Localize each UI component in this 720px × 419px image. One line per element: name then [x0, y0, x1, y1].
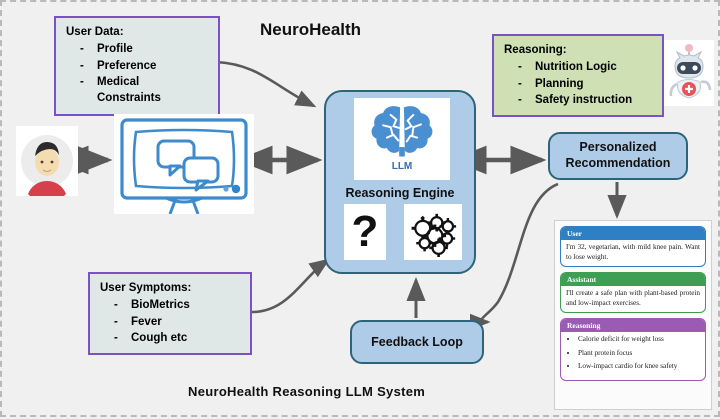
list-item: Low-impact cardio for knee safety	[578, 362, 700, 372]
reasoning-item-label: Planning	[535, 76, 654, 92]
user-data-box: User Data: -Profile -Preference -Medical…	[54, 16, 220, 116]
llm-label: LLM	[392, 161, 413, 172]
chat-assistant-body: I'll create a safe plan with plant-based…	[561, 286, 705, 312]
user-symptoms-list: -BioMetrics -Fever -Cough etc	[100, 297, 242, 346]
chat-transcript-panel: User I'm 32, vegetarian, with mild knee …	[554, 220, 712, 410]
reasoning-heading: Reasoning:	[504, 42, 654, 58]
gears-icon	[404, 204, 462, 260]
arrow-recommendation-feedback	[481, 184, 558, 322]
question-mark-icon: ?	[344, 204, 386, 260]
dash-marker: -	[80, 74, 92, 90]
dash-marker: -	[518, 59, 530, 75]
list-item-continuation: Constraints	[80, 90, 210, 106]
llm-tile: LLM	[354, 98, 450, 180]
recommendation-line-2: Recommendation	[566, 156, 671, 172]
personalized-recommendation-node[interactable]: Personalized Recommendation	[548, 132, 688, 180]
diagram-canvas: NeuroHealth User Data: -Profile -Prefere…	[0, 0, 720, 417]
list-item: -BioMetrics	[114, 297, 242, 313]
user-data-item-label: Profile	[97, 41, 210, 57]
reasoning-item-label: Safety instruction	[535, 92, 654, 108]
chat-card-reasoning: Reasoning Calorie deficit for weight los…	[560, 318, 706, 381]
monitor-chat-icon	[114, 114, 254, 214]
recommendation-line-1: Personalized	[566, 140, 671, 156]
chat-user-header: User	[561, 227, 705, 240]
user-symptoms-item-label: BioMetrics	[131, 297, 242, 313]
brain-icon	[368, 102, 436, 160]
user-data-item-label: Medical	[97, 74, 210, 90]
list-item: -Planning	[518, 76, 654, 92]
user-data-heading: User Data:	[66, 24, 210, 40]
chat-assistant-header: Assistant	[561, 273, 705, 286]
arrow-userdata-engine	[216, 62, 314, 106]
chat-card-assistant: Assistant I'll create a safe plan with p…	[560, 272, 706, 313]
list-item: -Preference	[80, 58, 210, 74]
reasoning-list: -Nutrition Logic -Planning -Safety instr…	[504, 59, 654, 108]
chat-reasoning-header: Reasoning	[561, 319, 705, 332]
user-symptoms-box: User Symptoms: -BioMetrics -Fever -Cough…	[88, 272, 252, 355]
diagram-caption: NeuroHealth Reasoning LLM System	[188, 384, 425, 399]
dash-marker: -	[114, 297, 126, 313]
list-item: -Cough etc	[114, 330, 242, 346]
list-item: -Profile	[80, 41, 210, 57]
user-data-item-label: Constraints	[97, 90, 210, 106]
list-item: Plant protein focus	[578, 349, 700, 359]
dash-marker: -	[518, 92, 530, 108]
user-symptoms-item-label: Cough etc	[131, 330, 242, 346]
feedback-loop-label: Feedback Loop	[371, 335, 463, 349]
list-item: -Medical	[80, 74, 210, 90]
page-title: NeuroHealth	[260, 20, 361, 40]
chat-reasoning-list: Calorie deficit for weight loss Plant pr…	[566, 335, 700, 372]
list-item: Calorie deficit for weight loss	[578, 335, 700, 345]
medical-robot-icon	[664, 40, 714, 106]
reasoning-item-label: Nutrition Logic	[535, 59, 654, 75]
dash-marker: -	[518, 76, 530, 92]
list-item: -Nutrition Logic	[518, 59, 654, 75]
reasoning-engine-title: Reasoning Engine	[326, 186, 474, 200]
recommendation-label: Personalized Recommendation	[566, 140, 671, 171]
reasoning-box: Reasoning: -Nutrition Logic -Planning -S…	[492, 34, 664, 117]
dash-marker: -	[80, 41, 92, 57]
dash-marker: -	[114, 314, 126, 330]
feedback-loop-node[interactable]: Feedback Loop	[350, 320, 484, 364]
reasoning-engine-node[interactable]: LLM Reasoning Engine ?	[324, 90, 476, 274]
user-symptoms-item-label: Fever	[131, 314, 242, 330]
chat-card-user: User I'm 32, vegetarian, with mild knee …	[560, 226, 706, 267]
chat-user-body: I'm 32, vegetarian, with mild knee pain.…	[561, 240, 705, 266]
user-symptoms-heading: User Symptoms:	[100, 280, 242, 296]
chat-reasoning-body: Calorie deficit for weight loss Plant pr…	[561, 332, 705, 380]
dash-marker: -	[114, 330, 126, 346]
user-data-item-label: Preference	[97, 58, 210, 74]
user-avatar-icon	[16, 126, 78, 196]
arrow-symptoms-engine	[252, 260, 328, 312]
dash-spacer	[80, 90, 92, 106]
list-item: -Safety instruction	[518, 92, 654, 108]
dash-marker: -	[80, 58, 92, 74]
user-data-list: -Profile -Preference -Medical Constraint…	[66, 41, 210, 106]
list-item: -Fever	[114, 314, 242, 330]
